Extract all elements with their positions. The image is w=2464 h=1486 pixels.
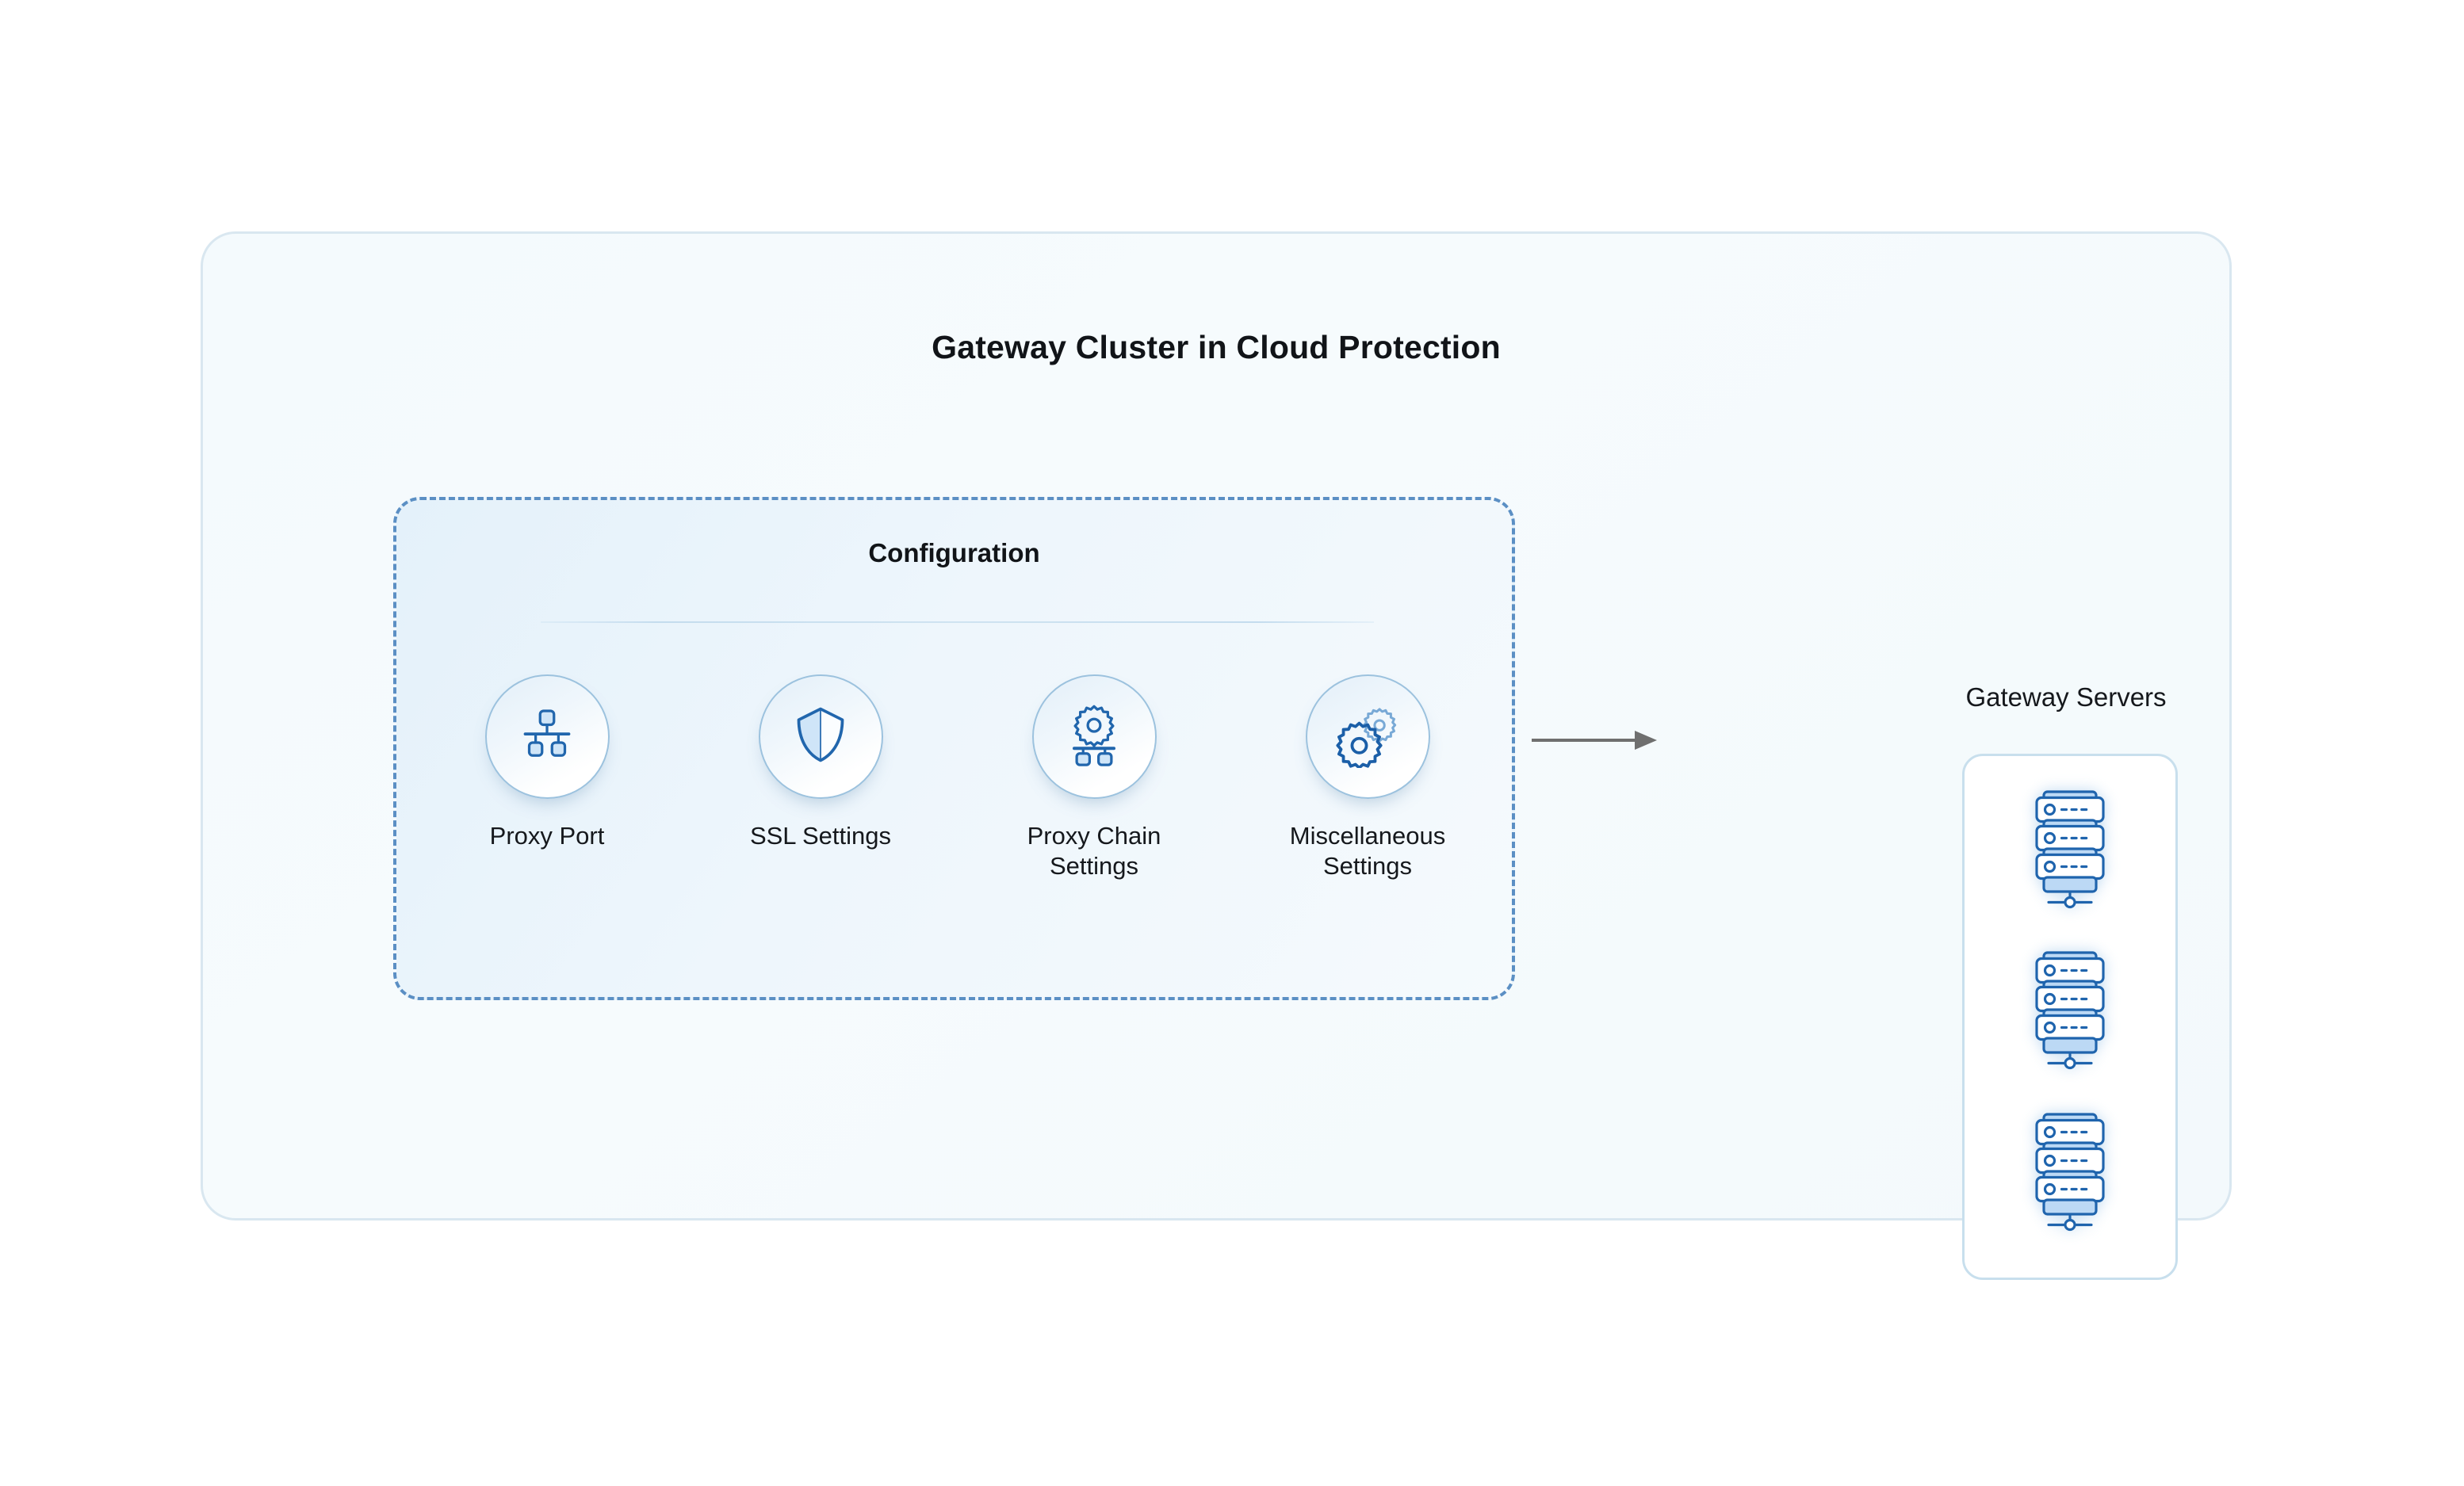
icon-circle [1032, 674, 1157, 799]
shield-icon [789, 703, 852, 770]
diagram-card: Gateway Cluster in Cloud Protection Conf… [201, 231, 2232, 1221]
icon-circle [759, 674, 883, 799]
config-item-proxy-chain-settings[interactable]: Proxy Chain Settings [991, 674, 1197, 881]
server-rack-icon[interactable] [2027, 1110, 2113, 1247]
divider [541, 621, 1374, 623]
icon-circle [485, 674, 610, 799]
double-gear-icon [1334, 701, 1401, 772]
config-item-label: Proxy Chain Settings [1027, 821, 1161, 881]
config-item-label: Proxy Port [490, 821, 605, 851]
icon-circle [1306, 674, 1430, 799]
arrow-right-icon [1532, 728, 1659, 752]
configuration-heading: Configuration [396, 538, 1512, 568]
configuration-panel: Configuration [393, 497, 1515, 1000]
config-item-miscellaneous-settings[interactable]: Miscellaneous Settings [1265, 674, 1471, 881]
config-item-label: Miscellaneous Settings [1290, 821, 1445, 881]
gateway-servers-panel [1962, 754, 2178, 1280]
config-item-ssl-settings[interactable]: SSL Settings [717, 674, 924, 851]
page-title: Gateway Cluster in Cloud Protection [203, 329, 2229, 366]
gateway-servers-label: Gateway Servers [1900, 682, 2233, 712]
configuration-item-list: Proxy Port SSL Settings [444, 674, 1471, 881]
server-rack-icon[interactable] [2027, 787, 2113, 924]
network-hierarchy-icon [515, 703, 579, 770]
config-item-proxy-port[interactable]: Proxy Port [444, 674, 650, 851]
config-item-label: SSL Settings [750, 821, 891, 851]
server-rack-icon[interactable] [2027, 948, 2113, 1085]
gear-hierarchy-icon [1062, 703, 1126, 770]
